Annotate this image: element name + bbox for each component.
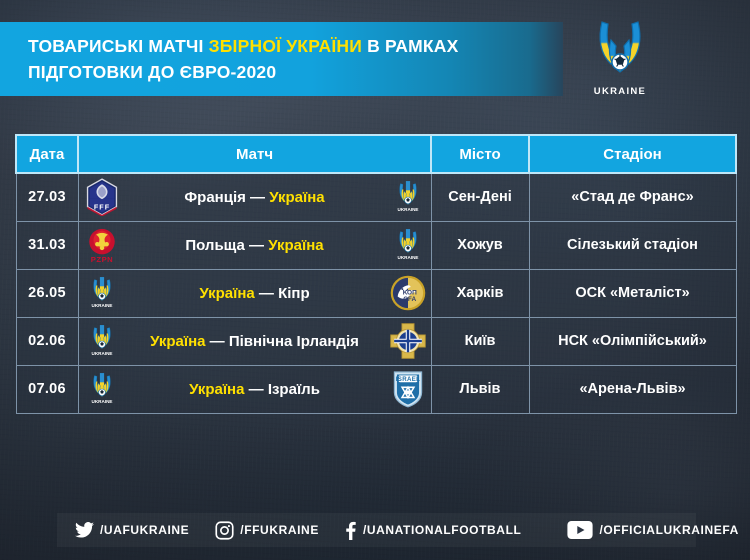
table-row: 27.03 FFF Франція — Україна [16,173,736,221]
instagram-icon [215,521,234,540]
match-date: 02.06 [16,317,78,365]
social-link-instagram[interactable]: /FFUKRAINE [215,521,319,540]
home-team-crest: UKRAINE [83,369,121,409]
match-fixture: UKRAINE Україна — Ізраїль ISRAEL [78,365,431,413]
match-teams: Україна — Кіпр [121,285,389,302]
match-city: Харків [431,269,529,317]
away-team-name: Україна [268,237,323,254]
column-header-city: Місто [431,135,529,173]
away-team-crest: UKRAINE [389,225,427,265]
match-city: Київ [431,317,529,365]
northern-ireland-ifa-crest-icon [389,322,427,360]
svg-text:PZPN: PZPN [90,255,112,264]
away-team-crest: ISRAEL [389,369,427,409]
match-city: Хожув [431,221,529,269]
ukraine-uaf-crest-icon [589,14,651,84]
match-date: 27.03 [16,173,78,221]
match-fixture: UKRAINE Україна — Північна Ірландія [78,317,431,365]
match-city: Сен-Дені [431,173,529,221]
page-title-line2: ПІДГОТОВКИ ДО ЄВРО-2020 [28,59,459,85]
table-row: 26.05 UKRAINE Україна — Кіпр [16,269,736,317]
social-handle-instagram: /FFUKRAINE [240,523,319,537]
match-teams: Україна — Ізраїль [121,381,389,398]
match-city: Львів [431,365,529,413]
poland-pzpn-crest-icon: PZPN [85,225,119,265]
match-fixture: PZPN Польща — Україна UKRAINE [78,221,431,269]
match-stadium: «Арена-Львів» [529,365,736,413]
svg-text:CFA: CFA [403,296,416,303]
social-link-facebook[interactable]: /UANATIONALFOOTBALL [345,521,522,540]
uaf-header-crest: UKRAINE [578,14,662,106]
svg-text:UKRAINE: UKRAINE [397,255,418,260]
away-team-crest [389,321,427,361]
ukraine-uaf-crest-icon: UKRAINE [89,369,115,409]
ukraine-uaf-crest-icon: UKRAINE [395,177,421,217]
ukraine-uaf-crest-icon: UKRAINE [89,273,115,313]
home-team-crest: UKRAINE [83,273,121,313]
svg-text:UKRAINE: UKRAINE [91,399,112,404]
page-title: ТОВАРИСЬКІ МАТЧІ ЗБІРНОЇ УКРАЇНИ В РАМКА… [0,33,459,85]
svg-text:UKRAINE: UKRAINE [91,303,112,308]
match-date: 31.03 [16,221,78,269]
home-team-name: Україна [199,285,254,302]
match-date: 26.05 [16,269,78,317]
match-dash: — [246,189,269,206]
match-schedule-table: Дата Матч Місто Стадіон 27.03 FFF Франці… [15,134,737,414]
title-part-pre: ТОВАРИСЬКІ МАТЧІ [28,36,209,56]
svg-text:UKRAINE: UKRAINE [397,207,418,212]
social-link-youtube[interactable]: /OFFICIALUKRAINEFA [567,521,738,539]
svg-text:ISRAEL: ISRAEL [395,376,419,383]
ukraine-uaf-crest-icon: UKRAINE [89,321,115,361]
match-dash: — [255,285,278,302]
away-team-name: Україна [269,189,324,206]
match-teams: Франція — Україна [121,189,389,206]
title-part-highlight: ЗБІРНОЇ УКРАЇНИ [209,36,362,56]
away-team-name: Ізраїль [268,381,320,398]
france-fff-crest-icon: FFF [85,178,119,216]
social-handle-facebook: /UANATIONALFOOTBALL [363,523,522,537]
table-row: 31.03 PZPN Польща — Україна [16,221,736,269]
match-dash: — [245,237,268,254]
facebook-icon [345,521,357,540]
match-dash: — [244,381,267,398]
home-team-crest: UKRAINE [83,321,121,361]
home-team-name: Україна [189,381,244,398]
israel-ifa-crest-icon: ISRAEL [391,369,425,409]
home-team-name: Франція [184,189,246,206]
match-stadium: НСК «Олімпійський» [529,317,736,365]
home-team-name: Україна [150,333,205,350]
column-header-stadium: Стадіон [529,135,736,173]
svg-text:UKRAINE: UKRAINE [91,351,112,356]
uaf-crest-label: UKRAINE [594,86,646,97]
match-teams: Україна — Північна Ірландія [121,333,389,350]
column-header-match: Матч [78,135,431,173]
page-title-line1: ТОВАРИСЬКІ МАТЧІ ЗБІРНОЇ УКРАЇНИ В РАМКА… [28,33,459,59]
match-fixture: UKRAINE Україна — Кіпр ΚΟΠ CFA [78,269,431,317]
home-team-name: Польща [185,237,245,254]
match-date: 07.06 [16,365,78,413]
away-team-crest: UKRAINE [389,177,427,217]
social-handle-youtube: /OFFICIALUKRAINEFA [599,523,738,537]
match-teams: Польща — Україна [121,237,389,254]
match-stadium: «Стад де Франс» [529,173,736,221]
match-stadium: Сілезький стадіон [529,221,736,269]
match-stadium: ОСК «Металіст» [529,269,736,317]
match-dash: — [206,333,229,350]
home-team-crest: PZPN [83,225,121,265]
youtube-icon [567,521,593,539]
cyprus-cfa-crest-icon: ΚΟΠ CFA [389,274,427,312]
away-team-name: Північна Ірландія [229,333,359,350]
social-footer-bar: /UAFUKRAINE /FFUKRAINE /UANATIONALFOOTBA… [57,513,696,547]
social-handle-twitter: /UAFUKRAINE [100,523,189,537]
header-banner: ТОВАРИСЬКІ МАТЧІ ЗБІРНОЇ УКРАЇНИ В РАМКА… [0,22,563,96]
svg-text:FFF: FFF [93,203,109,212]
column-header-date: Дата [16,135,78,173]
home-team-crest: FFF [83,177,121,217]
ukraine-uaf-crest-icon: UKRAINE [395,225,421,265]
social-link-twitter[interactable]: /UAFUKRAINE [75,522,189,538]
title-part-post: В РАМКАХ [362,36,459,56]
table-row: 02.06 UKRAINE Україна — Північна Ірланді… [16,317,736,365]
away-team-name: Кіпр [278,285,310,302]
table-row: 07.06 UKRAINE Україна — Ізраїль [16,365,736,413]
table-header-row: Дата Матч Місто Стадіон [16,135,736,173]
away-team-crest: ΚΟΠ CFA [389,273,427,313]
match-fixture: FFF Франція — Україна UKRAINE [78,173,431,221]
twitter-icon [75,522,94,538]
